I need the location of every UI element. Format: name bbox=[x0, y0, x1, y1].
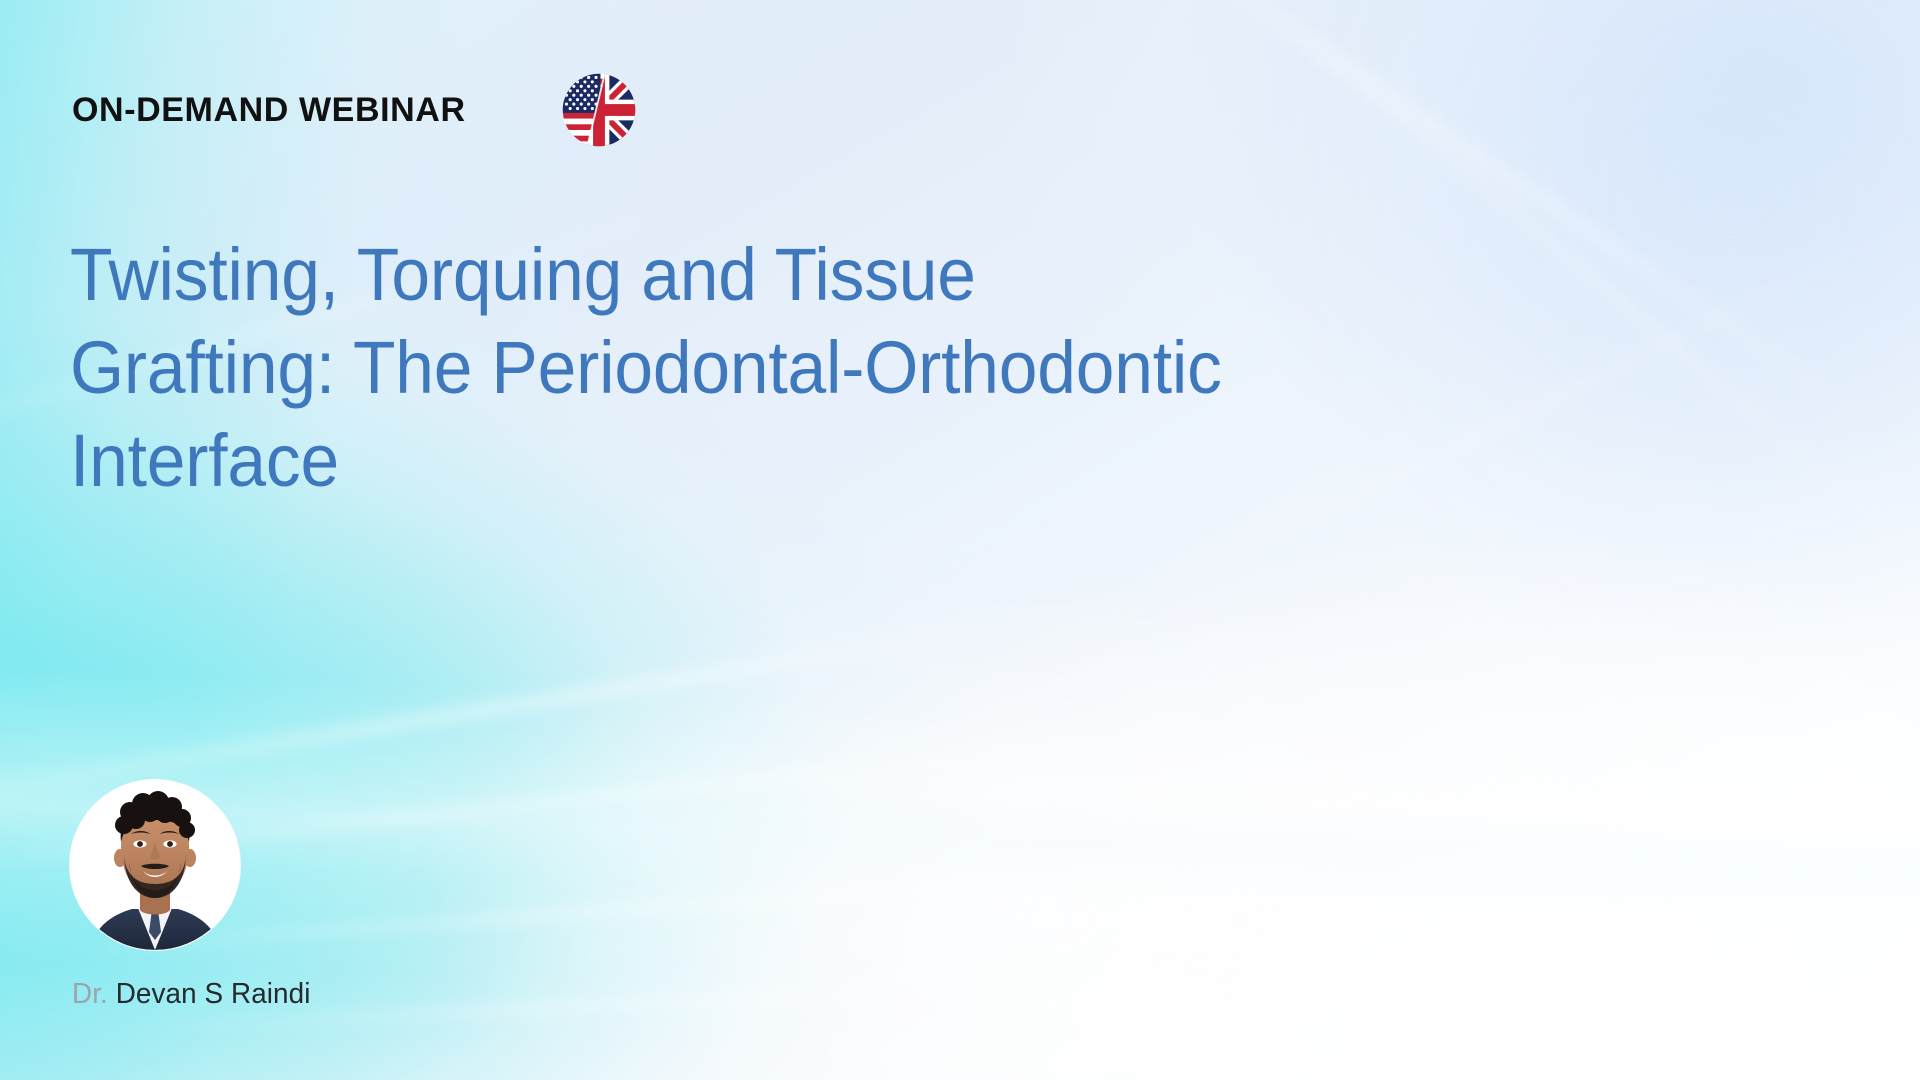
page-title-line-1: Twisting, Torquing and Tissue bbox=[70, 228, 1480, 321]
page-title: Twisting, Torquing and Tissue Grafting: … bbox=[70, 228, 1480, 508]
eyebrow-row: ON-DEMAND WEBINAR bbox=[72, 72, 636, 148]
speaker-name: Dr. Devan S Raindi bbox=[72, 978, 569, 1011]
eyebrow-label: ON-DEMAND WEBINAR bbox=[72, 93, 466, 127]
speaker-block: Dr. Devan S Raindi bbox=[70, 780, 590, 1011]
speaker-fullname: Devan S Raindi bbox=[116, 978, 311, 1010]
page-title-line-2: Grafting: The Periodontal-Orthodontic bbox=[70, 321, 1480, 414]
speaker-honorific: Dr. bbox=[72, 978, 108, 1010]
us-uk-flag-icon bbox=[562, 73, 636, 147]
avatar bbox=[70, 780, 240, 950]
page-title-line-3: Interface bbox=[70, 414, 1480, 507]
webinar-title-slide: ON-DEMAND WEBINAR bbox=[0, 0, 1920, 1080]
